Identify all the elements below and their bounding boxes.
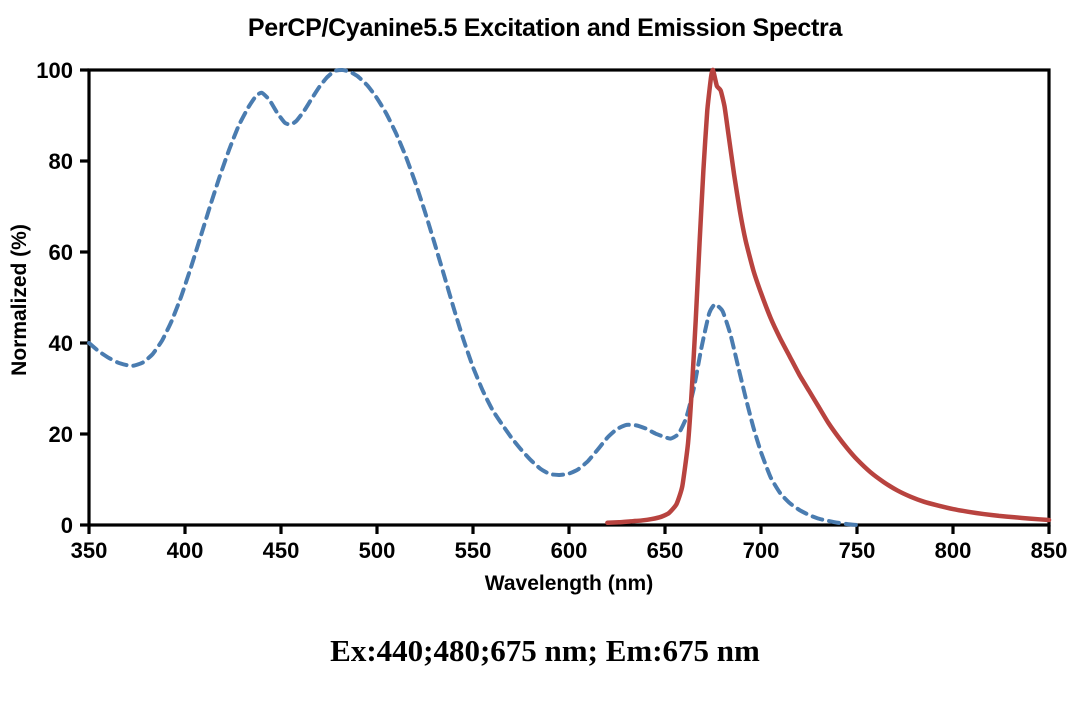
y-tick-label: 40: [49, 331, 73, 356]
x-tick-label: 450: [263, 538, 300, 563]
y-tick-label: 60: [49, 240, 73, 265]
y-tick-label: 0: [61, 513, 73, 538]
y-axis-label: Normalized (%): [8, 224, 31, 376]
x-tick-label: 550: [455, 538, 492, 563]
spectra-svg: 350400450500550600650700750800850 020406…: [0, 0, 1090, 703]
y-tick-label: 80: [49, 149, 73, 174]
x-tick-label: 850: [1031, 538, 1068, 563]
data-series-group: [89, 70, 1049, 525]
series-emission-line: [607, 70, 1049, 523]
x-tick-label: 700: [743, 538, 780, 563]
x-tick-label: 500: [359, 538, 396, 563]
x-tick-label: 400: [167, 538, 204, 563]
x-tick-label: 350: [71, 538, 108, 563]
x-tick-label: 750: [839, 538, 876, 563]
y-axis-tick-labels: 020406080100: [36, 58, 73, 538]
spectra-figure: PerCP/Cyanine5.5 Excitation and Emission…: [0, 0, 1090, 703]
x-tick-label: 600: [551, 538, 588, 563]
x-axis-label: Wavelength (nm): [485, 572, 653, 595]
series-excitation-line: [89, 70, 857, 525]
x-tick-label: 650: [647, 538, 684, 563]
plot-area: 350400450500550600650700750800850 020406…: [0, 0, 1090, 703]
y-tick-label: 100: [36, 58, 73, 83]
x-axis-tick-labels: 350400450500550600650700750800850: [71, 538, 1068, 563]
figure-caption: Ex:440;480;675 nm; Em:675 nm: [0, 633, 1090, 669]
x-tick-label: 800: [935, 538, 972, 563]
y-tick-label: 20: [49, 422, 73, 447]
